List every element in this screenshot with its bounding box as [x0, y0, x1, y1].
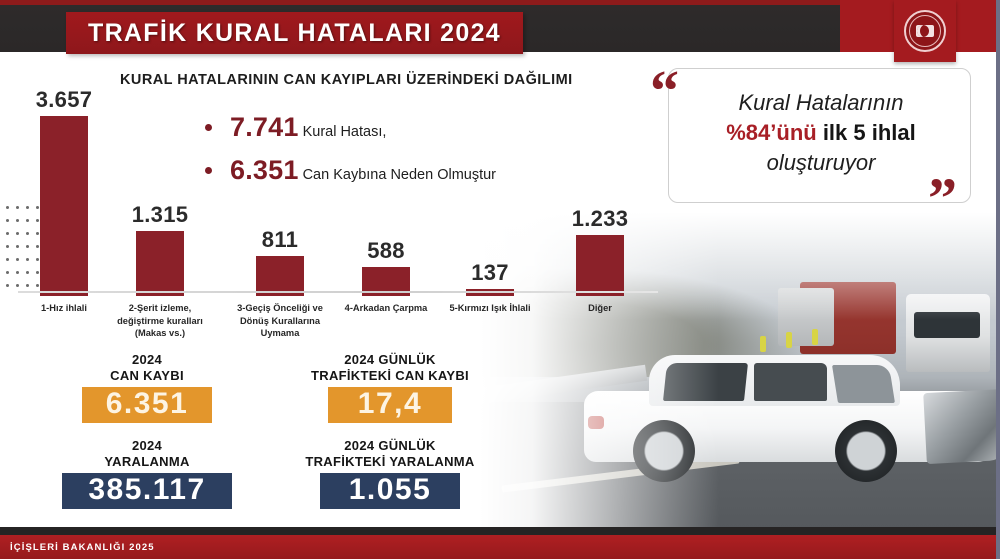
stat-card-daily-deaths: 2024 GÜNLÜK TRAFİKTEKİ CAN KAYBI 17,4 [290, 352, 490, 423]
bar-value-label: 137 [471, 260, 509, 286]
quote-text: Kural Hatalarının %84’ünü ilk 5 ihlal ol… [676, 88, 966, 178]
bar-rect [136, 231, 184, 296]
ministry-emblem-icon [904, 10, 946, 52]
stat-caption-line1: 2024 [132, 352, 162, 367]
chart-x-labels: 1-Hız ihlali2-Şerit izleme, değiştirme k… [18, 296, 658, 356]
bar-2: 1.315 [136, 202, 184, 296]
right-edge-strip [996, 0, 1000, 559]
footer-band: İÇİŞLERİ BAKANLIĞI 2025 [0, 535, 1000, 559]
footer-text: İÇİŞLERİ BAKANLIĞI 2025 [10, 542, 155, 553]
bar-1: 3.657 [40, 87, 88, 296]
quote-line-2: %84’ünü ilk 5 ihlal [676, 118, 966, 148]
quote-close-icon: ” [928, 170, 957, 228]
title-banner: TRAFİK KURAL HATALARI 2024 [66, 12, 523, 54]
bar-value-label: 1.233 [572, 206, 629, 232]
stat-caption-line2: CAN KAYBI [110, 368, 184, 383]
x-axis-label: 4-Arkadan Çarpma [334, 302, 438, 315]
bullet-number: 6.351 [230, 155, 299, 186]
car-wheel-front [835, 420, 897, 482]
stat-value: 1.055 [320, 473, 460, 509]
stat-caption-line1: 2024 GÜNLÜK [344, 438, 435, 453]
footer-dark-band [0, 527, 1000, 535]
bullet-text: Kural Hatası, [303, 124, 387, 140]
bullet-dot-icon [205, 167, 212, 174]
x-axis-label: Diğer [548, 302, 652, 315]
bullet-dot-icon [205, 124, 212, 131]
bar-6: 1.233 [576, 206, 624, 296]
bullet-list: 7.741 Kural Hatası, 6.351 Can Kaybına Ne… [205, 112, 496, 198]
bar-rect [576, 235, 624, 296]
stat-caption-line2: YARALANMA [104, 454, 189, 469]
bar-value-label: 811 [262, 227, 298, 253]
stat-caption-line2: TRAFİKTEKİ YARALANMA [305, 454, 474, 469]
quote-line-1: Kural Hatalarının [676, 88, 966, 118]
car-window-mid [754, 363, 827, 401]
stat-caption: 2024 CAN KAYBI [82, 352, 212, 383]
infographic-slide: TRAFİK KURAL HATALARI 2024 KURAL HATALAR… [0, 0, 1000, 559]
stat-caption-line1: 2024 GÜNLÜK [344, 352, 435, 367]
photo-worker [812, 329, 818, 345]
bullet-text: Can Kaybına Neden Olmuştur [303, 167, 496, 183]
quote-line-3: oluşturuyor [676, 148, 966, 178]
bar-value-label: 3.657 [36, 87, 93, 113]
x-axis-label: 5-Kırmızı Işık İhlali [438, 302, 542, 315]
list-item: 6.351 Can Kaybına Neden Olmuştur [205, 155, 496, 186]
stat-value: 385.117 [62, 473, 232, 509]
car-crushed-front [923, 389, 1000, 464]
stat-caption: 2024 GÜNLÜK TRAFİKTEKİ YARALANMA [290, 438, 490, 469]
x-axis-label: 1-Hız ihlali [12, 302, 116, 315]
stat-caption-line2: TRAFİKTEKİ CAN KAYBI [311, 368, 469, 383]
car-windshield [832, 365, 895, 403]
chart-title: KURAL HATALARININ CAN KAYIPLARI ÜZERİNDE… [120, 72, 573, 88]
chart-axis-line [18, 291, 658, 293]
x-axis-label: 2-Şerit izleme, değiştirme kuralları (Ma… [108, 302, 212, 340]
quote-line-2-rest: ilk 5 ihlal [817, 120, 916, 145]
photo-worker [760, 336, 766, 352]
stat-card-daily-injuries: 2024 GÜNLÜK TRAFİKTEKİ YARALANMA 1.055 [290, 438, 490, 509]
stat-value: 6.351 [82, 387, 212, 423]
x-axis-label: 3-Geçiş Önceliği ve Dönüş Kurallarına Uy… [228, 302, 332, 340]
stat-value: 17,4 [328, 387, 452, 423]
stat-card-deaths: 2024 CAN KAYBI 6.351 [82, 352, 212, 423]
bar-value-label: 1.315 [132, 202, 189, 228]
bar-4: 588 [362, 238, 410, 296]
ministry-logo-tab [894, 0, 956, 62]
bar-value-label: 588 [367, 238, 405, 264]
photo-worker [786, 332, 792, 348]
stat-caption-line1: 2024 [132, 438, 162, 453]
bar-rect [256, 256, 304, 296]
list-item: 7.741 Kural Hatası, [205, 112, 496, 143]
quote-open-icon: “ [650, 62, 679, 120]
page-title: TRAFİK KURAL HATALARI 2024 [88, 19, 501, 48]
stat-caption: 2024 GÜNLÜK TRAFİKTEKİ CAN KAYBI [290, 352, 490, 383]
bar-rect [40, 116, 88, 296]
quote-highlight: %84’ünü [726, 120, 816, 145]
stat-card-injuries: 2024 YARALANMA 385.117 [62, 438, 232, 509]
stat-caption: 2024 YARALANMA [62, 438, 232, 469]
bullet-number: 7.741 [230, 112, 299, 143]
bar-3: 811 [256, 227, 304, 296]
